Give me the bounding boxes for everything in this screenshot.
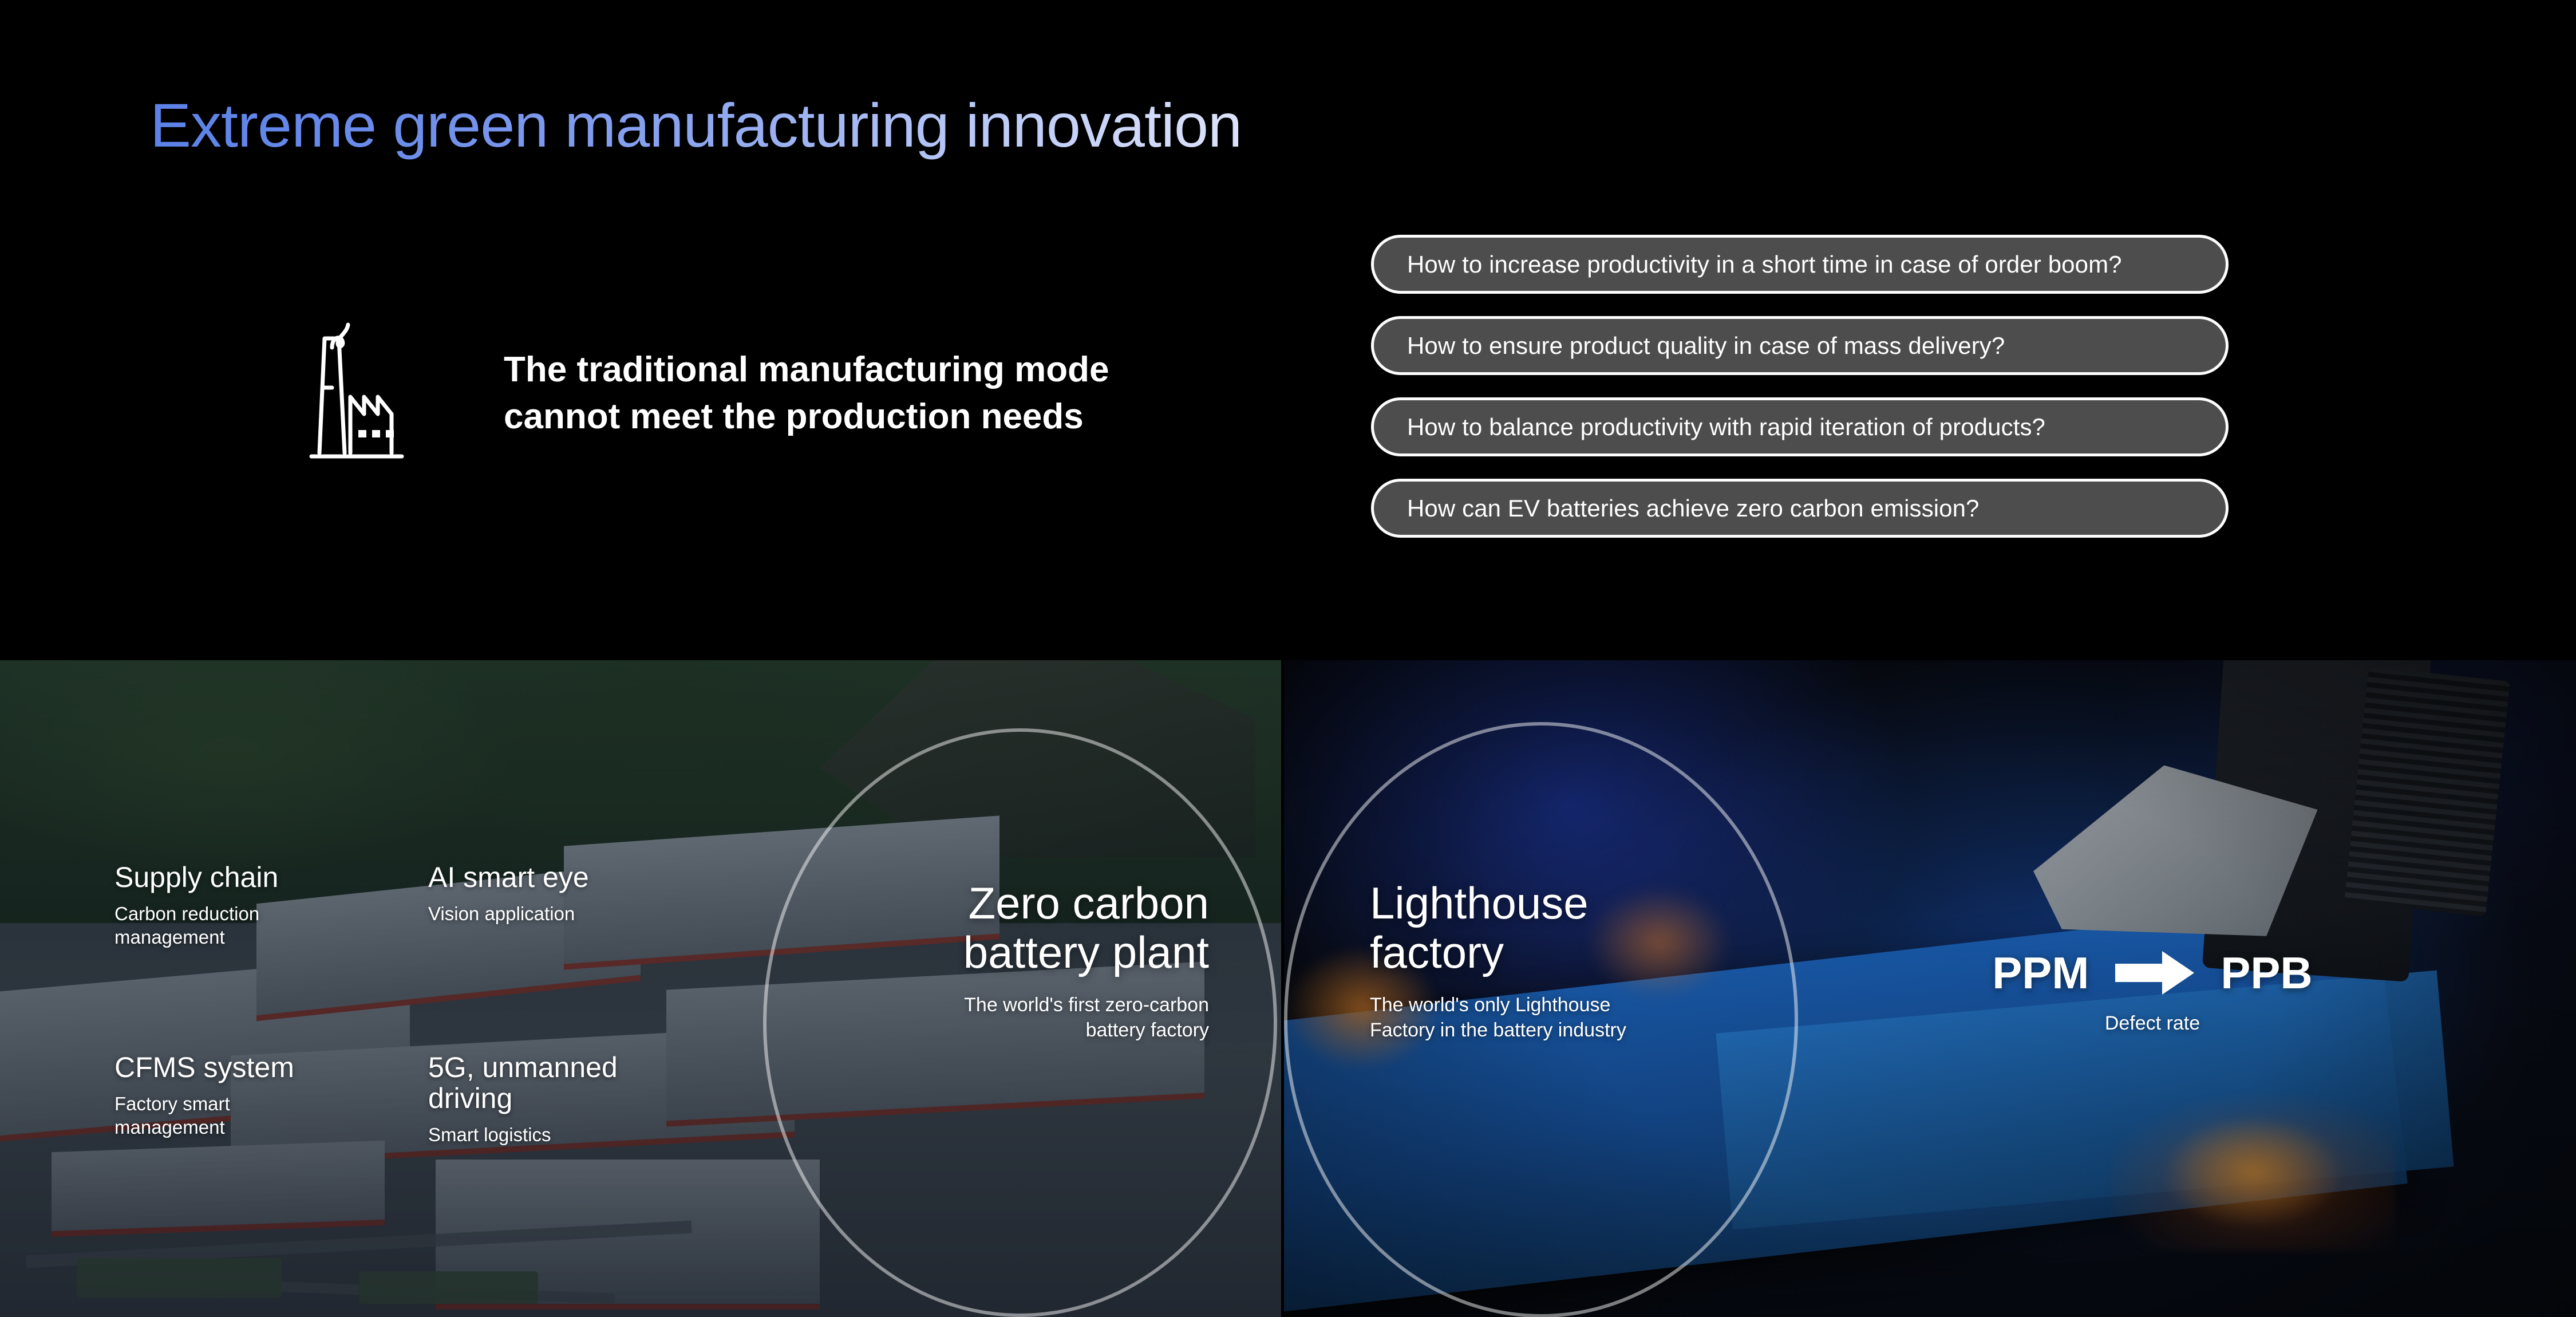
- feature-subtitle: Factory smart management: [114, 1093, 294, 1139]
- question-pill-4[interactable]: How can EV batteries achieve zero carbon…: [1371, 479, 2229, 538]
- feature-subtitle: Vision application: [428, 902, 589, 926]
- metric-to: PPB: [2221, 951, 2312, 995]
- highlight-title: Lighthouse factory: [1370, 879, 1805, 977]
- question-pill-list: How to increase productivity in a short …: [1371, 235, 2229, 538]
- page-title: Extreme green manufacturing innovation: [150, 92, 1242, 160]
- highlight-lighthouse-factory: Lighthouse factory The world's only Ligh…: [1370, 879, 1805, 1043]
- highlight-subtitle: The world's first zero-carbon battery fa…: [774, 992, 1209, 1043]
- defect-rate-metric: PPM PPB Defect rate: [1935, 951, 2370, 1035]
- metric-from: PPM: [1992, 951, 2089, 995]
- arrow-right-icon: [2115, 951, 2194, 995]
- headline-line-1: The traditional manufacturing mode: [504, 346, 1248, 393]
- question-pill-3[interactable]: How to balance productivity with rapid i…: [1371, 397, 2229, 456]
- feature-ai-smart-eye: AI smart eye Vision application: [428, 862, 589, 926]
- top-section: Extreme green manufacturing innovation: [0, 0, 2576, 660]
- metric-label: Defect rate: [1935, 1012, 2370, 1035]
- metric-row: PPM PPB: [1935, 951, 2370, 995]
- headline-line-2: cannot meet the production needs: [504, 393, 1248, 440]
- feature-title: 5G, unmanned driving: [428, 1052, 618, 1114]
- feature-cfms-system: CFMS system Factory smart management: [114, 1052, 294, 1139]
- feature-title: AI smart eye: [428, 862, 589, 893]
- factory-icon: [309, 312, 406, 461]
- feature-5g-unmanned-driving: 5G, unmanned driving Smart logistics: [428, 1052, 618, 1147]
- highlight-zero-carbon-plant: Zero carbon battery plant The world's fi…: [774, 879, 1209, 1043]
- highlight-subtitle: The world's only Lighthouse Factory in t…: [1370, 992, 1805, 1043]
- slide-root: Extreme green manufacturing innovation: [0, 0, 2576, 1317]
- feature-supply-chain: Supply chain Carbon reduction management: [114, 862, 278, 949]
- feature-subtitle: Carbon reduction management: [114, 902, 278, 949]
- question-pill-1[interactable]: How to increase productivity in a short …: [1371, 235, 2229, 294]
- intro-headline: The traditional manufacturing mode canno…: [504, 346, 1248, 440]
- feature-subtitle: Smart logistics: [428, 1123, 618, 1147]
- feature-title: Supply chain: [114, 862, 278, 893]
- highlight-title: Zero carbon battery plant: [774, 879, 1209, 977]
- question-pill-2[interactable]: How to ensure product quality in case of…: [1371, 316, 2229, 375]
- feature-title: CFMS system: [114, 1052, 294, 1083]
